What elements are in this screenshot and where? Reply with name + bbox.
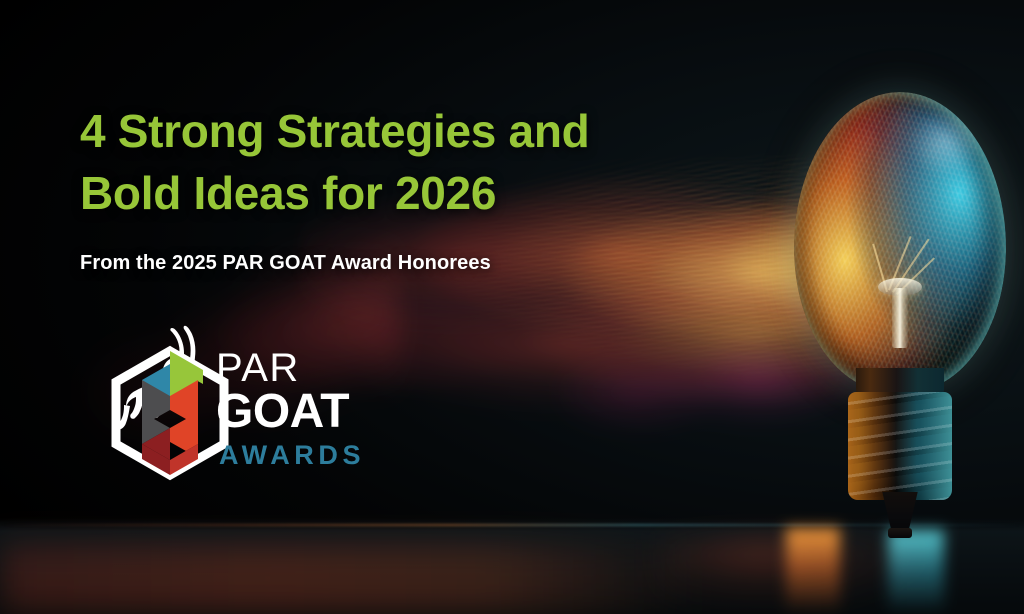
base-cyan-highlight <box>896 392 952 500</box>
filament-glass-stem <box>892 288 908 348</box>
bulb-base-contact-tip <box>888 528 912 538</box>
text-content-block: 4 Strong Strategies and Bold Ideas for 2… <box>80 0 720 614</box>
bulb-glass-specular-highlight <box>908 110 980 176</box>
subheadline: From the 2025 PAR GOAT Award Honorees <box>80 250 491 276</box>
bulb-screw-base <box>848 392 952 500</box>
hexagon-color-facets <box>142 351 203 475</box>
headline: 4 Strong Strategies and Bold Ideas for 2… <box>80 100 589 224</box>
par-goat-awards-logo: PAR GOAT AWARDS <box>96 320 396 490</box>
logo-word-par: PAR <box>216 348 300 388</box>
base-orange-highlight <box>848 392 896 500</box>
logo-word-awards: AWARDS <box>219 440 365 470</box>
light-bulb-illustration <box>776 92 1024 562</box>
promo-banner: 4 Strong Strategies and Bold Ideas for 2… <box>0 0 1024 614</box>
logo-word-goat: GOAT <box>216 386 349 438</box>
logo-wordmark: PAR GOAT AWARDS <box>216 348 396 478</box>
